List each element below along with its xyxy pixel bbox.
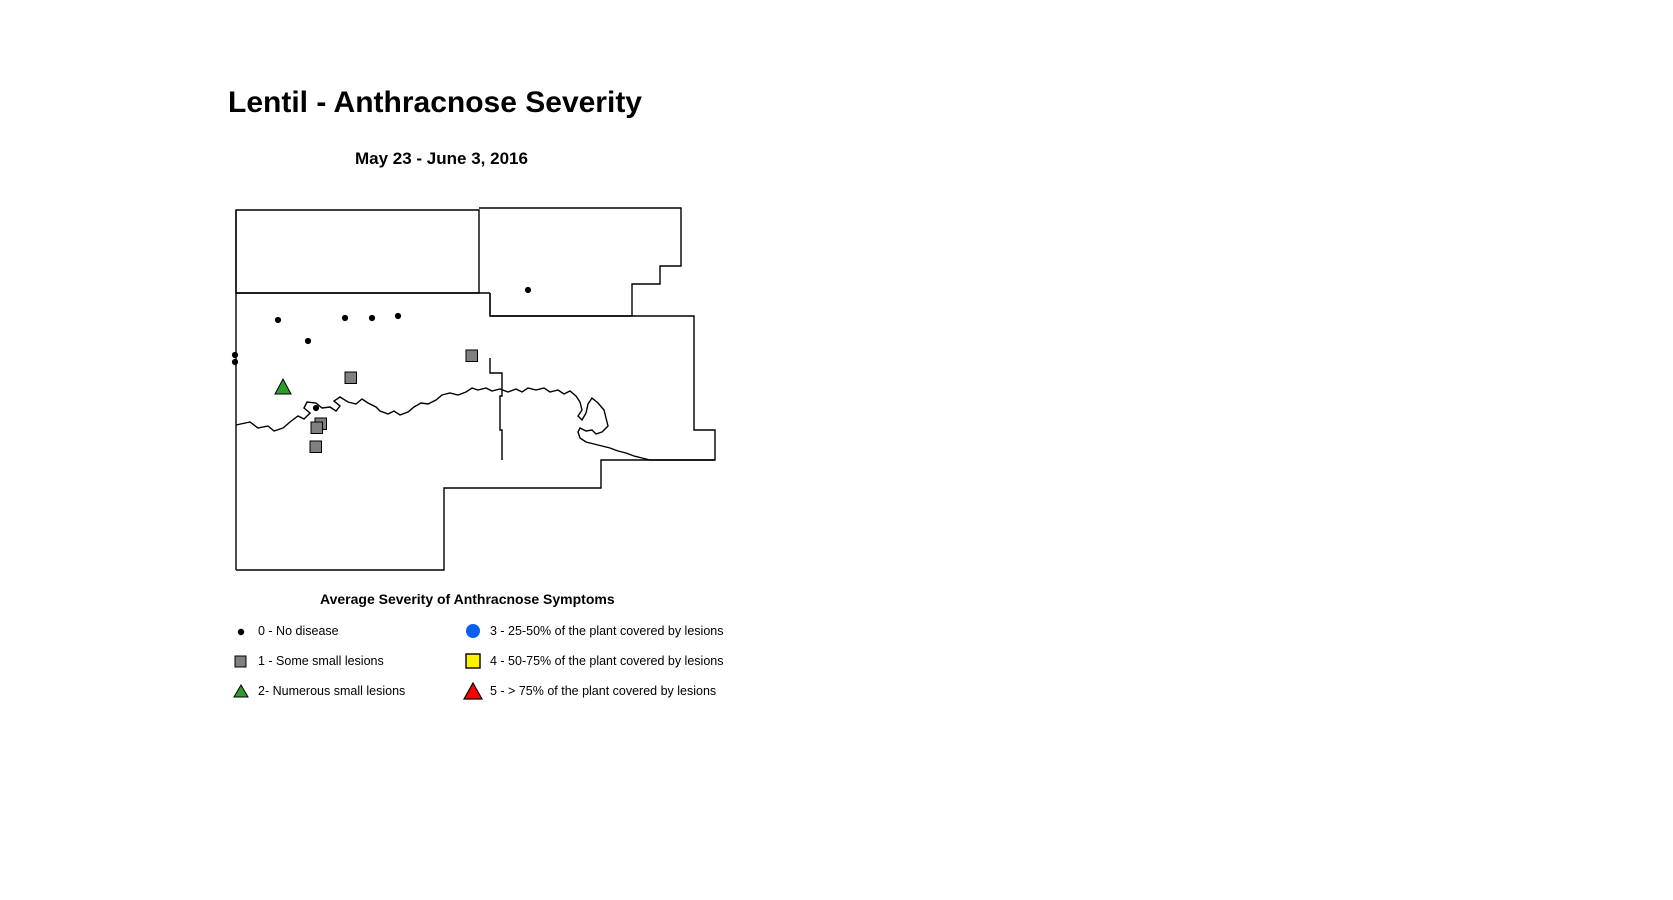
poster-page: Lentil - Anthracnose Severity May 23 - J…	[0, 0, 1673, 900]
page-title: Lentil - Anthracnose Severity	[228, 86, 642, 120]
gray-square-icon	[228, 651, 254, 671]
map-data-points	[232, 287, 531, 453]
legend-label-severity-5: 5 - > 75% of the plant covered by lesion…	[490, 684, 716, 698]
severity-map	[228, 198, 728, 588]
data-point-severity-0	[232, 359, 238, 365]
small-black-dot-icon	[228, 621, 254, 641]
river-boundary	[236, 388, 715, 460]
legend-item-severity-5: 5 - > 75% of the plant covered by lesion…	[460, 676, 720, 706]
data-point-severity-0	[232, 352, 238, 358]
data-point-severity-2	[275, 379, 291, 394]
legend-label-severity-3: 3 - 25-50% of the plant covered by lesio…	[490, 624, 723, 638]
green-triangle-icon	[228, 681, 254, 701]
map-boundaries	[236, 208, 715, 570]
legend-column-left: 0 - No disease 1 - Some small lesions 2-…	[228, 616, 488, 706]
page-subtitle: May 23 - June 3, 2016	[355, 149, 528, 169]
data-point-severity-0	[369, 315, 375, 321]
data-point-severity-1	[311, 422, 323, 434]
legend-column-right: 3 - 25-50% of the plant covered by lesio…	[460, 616, 720, 706]
east-county-outline	[490, 316, 715, 488]
data-point-severity-0	[395, 313, 401, 319]
legend-item-severity-2: 2- Numerous small lesions	[228, 676, 488, 706]
data-point-severity-0	[525, 287, 531, 293]
legend-item-severity-4: 4 - 50-75% of the plant covered by lesio…	[460, 646, 720, 676]
northeast-county-outline	[479, 208, 681, 316]
data-point-severity-1	[466, 350, 478, 362]
northwest-county-outline	[236, 210, 479, 293]
south-border	[236, 488, 544, 570]
legend-item-severity-0: 0 - No disease	[228, 616, 488, 646]
legend-item-severity-1: 1 - Some small lesions	[228, 646, 488, 676]
data-point-severity-0	[275, 317, 281, 323]
data-point-severity-0	[342, 315, 348, 321]
blue-circle-icon	[460, 621, 486, 641]
legend-label-severity-0: 0 - No disease	[258, 624, 339, 638]
interior-divider-south	[490, 358, 502, 460]
legend-title: Average Severity of Anthracnose Symptoms	[320, 591, 615, 607]
legend-item-severity-3: 3 - 25-50% of the plant covered by lesio…	[460, 616, 720, 646]
map-canvas	[228, 198, 728, 588]
legend-label-severity-4: 4 - 50-75% of the plant covered by lesio…	[490, 654, 723, 668]
red-triangle-icon	[460, 681, 486, 701]
data-point-severity-1	[310, 441, 322, 453]
data-point-severity-0	[313, 405, 319, 411]
legend-label-severity-1: 1 - Some small lesions	[258, 654, 384, 668]
legend-label-severity-2: 2- Numerous small lesions	[258, 684, 405, 698]
data-point-severity-1	[345, 372, 357, 384]
legend: 0 - No disease 1 - Some small lesions 2-…	[228, 616, 748, 708]
data-point-severity-0	[305, 338, 311, 344]
yellow-square-icon	[460, 651, 486, 671]
